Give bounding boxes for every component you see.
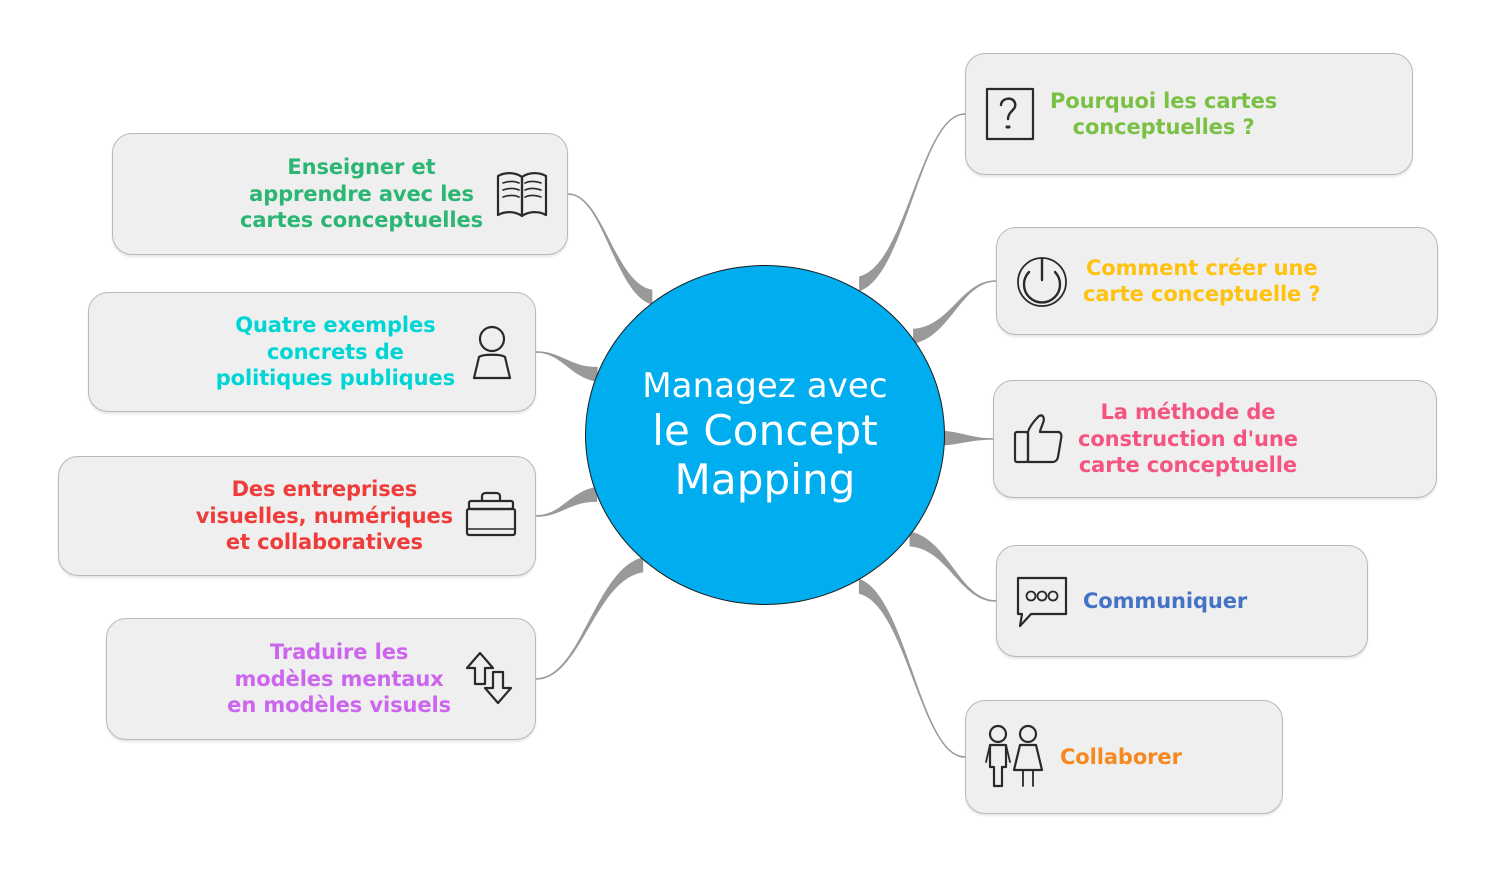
open-book-icon: [491, 163, 553, 225]
power-button-icon: [1011, 250, 1073, 312]
branch-node-left-3[interactable]: Des entreprises visuelles, numériques et…: [58, 456, 536, 576]
hub-line-1: Managez avec: [642, 367, 887, 405]
branch-node-left-2[interactable]: Quatre exemples concrets de politiques p…: [88, 292, 536, 412]
mindmap-canvas: Managez avec le Concept Mapping Enseigne…: [0, 0, 1500, 872]
question-box-icon: [980, 82, 1040, 146]
branch-node-label: Comment créer une carte conceptuelle ?: [1083, 255, 1320, 308]
branch-node-label: Quatre exemples concrets de politiques p…: [216, 312, 455, 391]
branch-node-right-3[interactable]: La méthode de construction d'une carte c…: [993, 380, 1437, 498]
branch-node-right-5[interactable]: Collaborer: [965, 700, 1283, 814]
branch-node-label: Enseigner et apprendre avec les cartes c…: [240, 154, 483, 233]
connector-right-7: [943, 431, 993, 446]
branch-node-right-4[interactable]: Communiquer: [996, 545, 1368, 657]
branch-node-label: Traduire les modèles mentaux en modèles …: [227, 639, 451, 718]
connector-right-9: [859, 579, 965, 758]
speech-bubble-icon: [1011, 570, 1073, 632]
hub-line-2: le Concept: [652, 407, 878, 454]
branch-node-left-4[interactable]: Traduire les modèles mentaux en modèles …: [106, 618, 536, 740]
branch-node-label: La méthode de construction d'une carte c…: [1078, 399, 1298, 478]
branch-node-left-1[interactable]: Enseigner et apprendre avec les cartes c…: [112, 133, 568, 255]
central-topic-node[interactable]: Managez avec le Concept Mapping: [585, 265, 945, 605]
connector-left-2: [536, 351, 598, 382]
thumbs-up-icon: [1008, 409, 1068, 469]
connector-right-5: [859, 113, 965, 291]
connector-left-1: [568, 193, 652, 304]
branch-node-right-2[interactable]: Comment créer une carte conceptuelle ?: [996, 227, 1438, 335]
branch-node-label: Communiquer: [1083, 588, 1247, 614]
branch-node-label: Collaborer: [1060, 744, 1182, 770]
branch-node-label: Pourquoi les cartes conceptuelles ?: [1050, 88, 1277, 141]
branch-node-label: Des entreprises visuelles, numériques et…: [196, 476, 453, 555]
two-people-icon: [980, 722, 1050, 792]
person-bust-icon: [463, 321, 521, 383]
briefcase-icon: [461, 487, 521, 545]
branch-node-right-1[interactable]: Pourquoi les cartes conceptuelles ?: [965, 53, 1413, 175]
connector-right-6: [913, 280, 996, 344]
hub-line-3: Mapping: [675, 456, 856, 503]
connector-right-8: [910, 531, 996, 601]
connector-left-4: [536, 557, 643, 680]
connector-left-3: [536, 487, 597, 517]
up-down-arrows-icon: [459, 648, 521, 710]
